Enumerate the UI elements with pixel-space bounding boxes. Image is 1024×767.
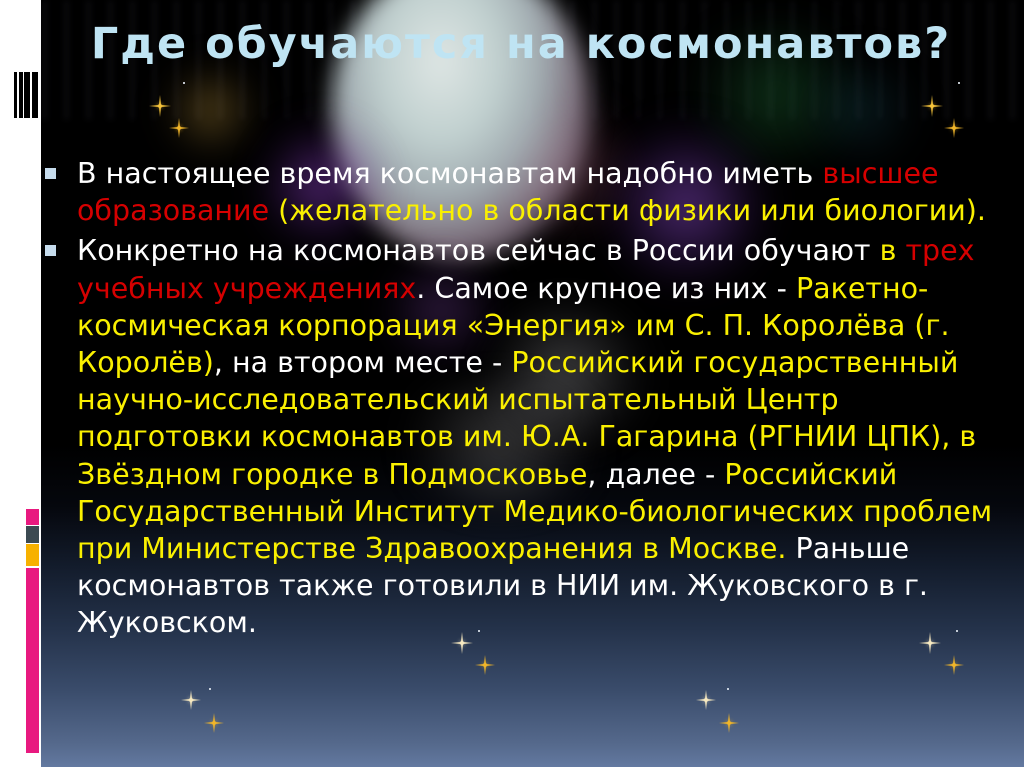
paragraph-text: В настоящее время космонавтам надобно им… [77, 157, 986, 227]
text-run-yellow: в [880, 234, 906, 267]
text-run-white: Конкретно на космонавтов сейчас в России… [77, 234, 880, 267]
presentation-slide: Где обучаются на космонавтов? В настояще… [0, 0, 1024, 767]
star-dot [183, 82, 185, 84]
text-run-white: , на втором месте - [214, 346, 511, 379]
star-dot [209, 688, 211, 690]
slide-body: В настоящее время космонавтам надобно им… [41, 155, 1016, 642]
star-dot [958, 82, 960, 84]
chip-amber [26, 544, 39, 566]
amber-nebula-glow [161, 60, 261, 160]
barcode-stripes-decoration [14, 72, 38, 118]
bullet-paragraph: Конкретно на космонавтов сейчас в России… [41, 232, 1016, 641]
chip-magenta-bar [26, 568, 39, 753]
text-run-white: В настоящее время космонавтам надобно им… [77, 157, 822, 190]
square-bullet-icon [45, 245, 56, 256]
square-bullet-icon [45, 168, 56, 179]
bullet-paragraph: В настоящее время космонавтам надобно им… [41, 155, 1016, 229]
paragraph-text: Конкретно на космонавтов сейчас в России… [77, 234, 992, 639]
text-run-yellow: (желательно в области физики или биологи… [278, 194, 986, 227]
star-dot [727, 688, 729, 690]
text-run-white: . Самое крупное из них - [416, 272, 796, 305]
chip-magenta-top [26, 509, 39, 525]
slide-title: Где обучаются на космонавтов? [41, 18, 1001, 70]
text-run-white: , далее - [587, 458, 724, 491]
chip-slate [26, 526, 39, 543]
